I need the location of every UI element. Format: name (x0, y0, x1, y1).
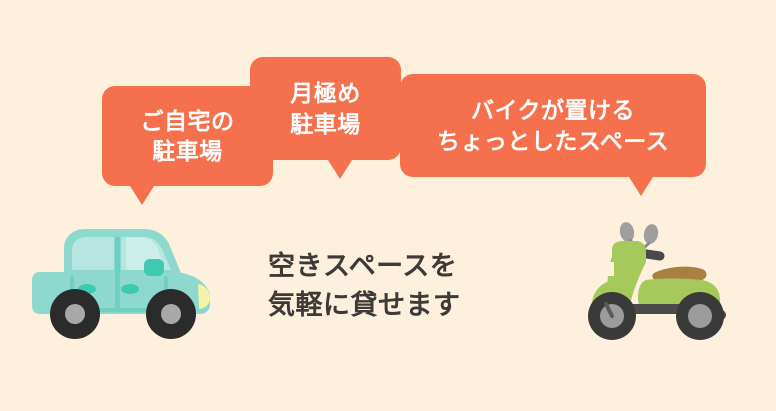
bubble-monthly-parking-line1: 月極め (290, 78, 361, 108)
bubble-bike-space-line2: ちょっとしたスペース (437, 126, 669, 156)
bubble-monthly-parking-line2: 駐車場 (290, 109, 361, 139)
bubble-home-parking-line2: 駐車場 (152, 136, 223, 166)
promo-banner: ご自宅の 駐車場 月極め 駐車場 バイクが置ける ちょっとしたスペース 空きスペ… (0, 0, 776, 411)
headline: 空きスペースを 気軽に貸せます (268, 247, 498, 325)
bubble-bike-space-tail (629, 177, 653, 196)
bubble-home-parking-tail (130, 186, 154, 205)
bubble-bike-space-line1: バイクが置ける (471, 95, 635, 125)
headline-line2: 気軽に貸せます (268, 286, 498, 325)
scooter-icon (578, 218, 738, 343)
car-icon (26, 218, 216, 343)
bubble-bike-space[interactable]: バイクが置ける ちょっとしたスペース (400, 74, 706, 177)
bubble-monthly-parking-tail (328, 160, 352, 179)
bubble-home-parking[interactable]: ご自宅の 駐車場 (102, 86, 273, 186)
bubble-home-parking-line1: ご自宅の (141, 106, 235, 136)
headline-line1: 空きスペースを (268, 247, 498, 286)
bubble-monthly-parking[interactable]: 月極め 駐車場 (250, 57, 401, 160)
